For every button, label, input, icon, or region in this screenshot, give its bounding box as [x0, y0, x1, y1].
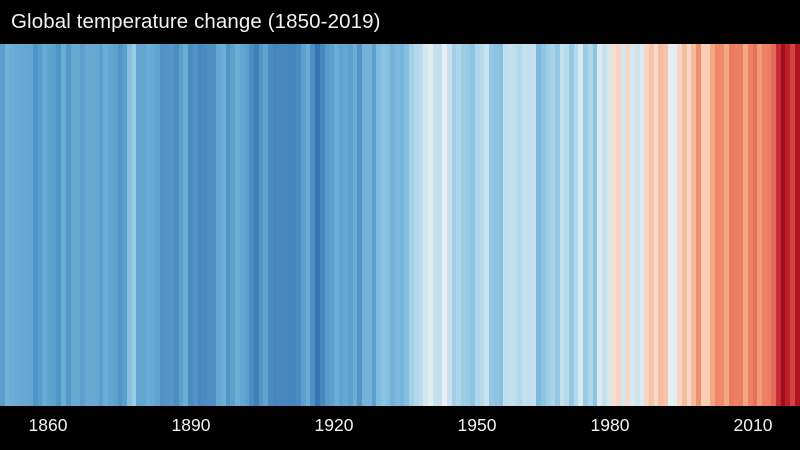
x-axis-tick-label: 1980 — [591, 414, 630, 436]
x-axis-tick-label: 1920 — [315, 414, 354, 436]
x-axis-tick-label: 1890 — [172, 414, 211, 436]
x-axis-tick-label: 1860 — [29, 414, 68, 436]
x-axis-tick-label: 1950 — [458, 414, 497, 436]
temperature-stripes-band — [0, 44, 800, 406]
warming-stripes-figure: Global temperature change (1850-2019) 18… — [0, 0, 800, 450]
x-axis-tick-label: 2010 — [734, 414, 773, 436]
page-title: Global temperature change (1850-2019) — [11, 7, 791, 37]
temperature-stripe — [795, 44, 800, 406]
x-axis: 186018901920195019802010 — [0, 406, 800, 450]
